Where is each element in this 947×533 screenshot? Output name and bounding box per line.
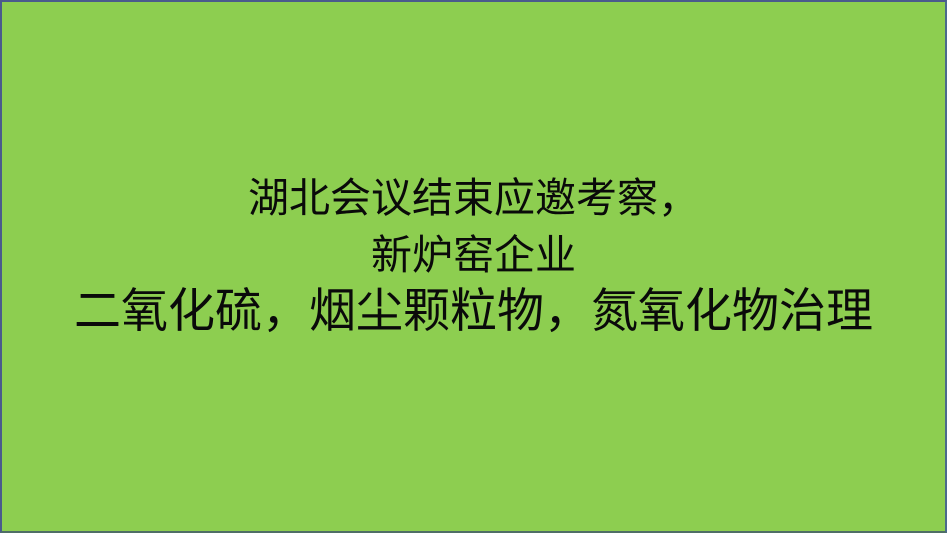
slide-title-block: 湖北会议结束应邀考察， 新炉窑企业 二氧化硫，烟尘颗粒物，氮氧化物治理 [2, 170, 945, 341]
slide-canvas: 湖北会议结束应邀考察， 新炉窑企业 二氧化硫，烟尘颗粒物，氮氧化物治理 [0, 0, 947, 533]
slide-title-line-1: 湖北会议结束应邀考察， [2, 170, 945, 227]
slide-title-line-2: 新炉窑企业 [2, 227, 945, 283]
slide-title-line-3: 二氧化硫，烟尘颗粒物，氮氧化物治理 [2, 283, 945, 341]
